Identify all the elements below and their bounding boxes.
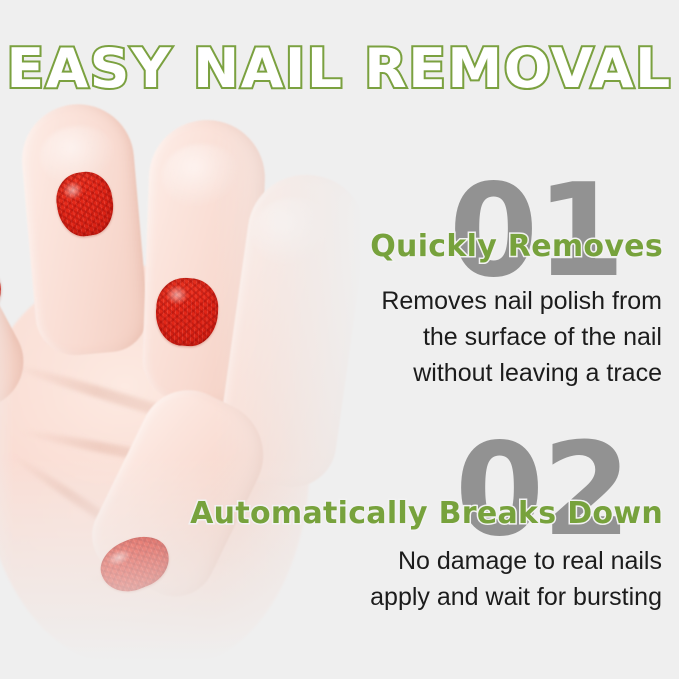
section-body-01: Removes nail polish from the surface of … [381,283,662,391]
title-banner: EASY NAIL REMOVAL [0,36,679,102]
page-title: EASY NAIL REMOVAL [7,41,672,97]
product-infographic: EASY NAIL REMOVAL 01 Quickly Removes Rem… [0,0,679,679]
hand-product-photo [0,96,366,679]
section-body-02-line-2: apply and wait for bursting [370,579,662,615]
section-body-01-line-3: without leaving a trace [381,355,662,391]
section-body-01-line-2: the surface of the nail [381,319,662,355]
section-body-02-line-1: No damage to real nails [370,543,662,579]
section-heading-01: Quickly Removes [370,232,663,262]
section-body-02: No damage to real nails apply and wait f… [370,543,662,615]
section-heading-02: Automatically Breaks Down [190,499,663,529]
finger-middle-knuckle [162,144,242,210]
section-number-02: 02 [455,427,629,555]
finger-ring-knuckle [252,198,332,268]
section-body-01-line-1: Removes nail polish from [381,283,662,319]
